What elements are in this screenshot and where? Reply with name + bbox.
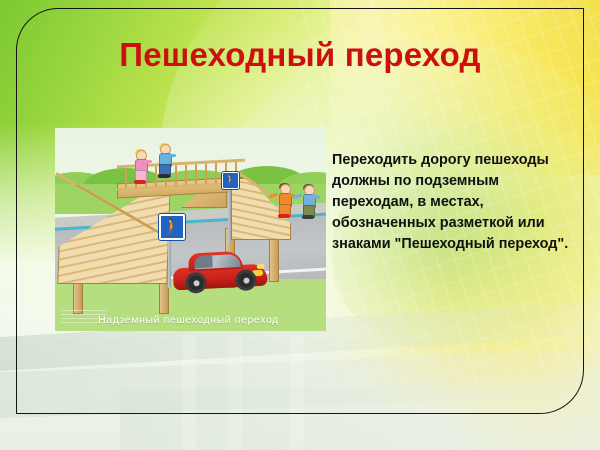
car-side-window xyxy=(194,255,213,268)
arm xyxy=(167,154,176,157)
shoes xyxy=(158,174,170,178)
background-vertical-bands xyxy=(170,335,600,450)
sign-pole xyxy=(228,186,231,244)
child-girl-on-bridge xyxy=(133,150,147,186)
shoes xyxy=(302,215,314,219)
slide: Пешеходный переход xyxy=(0,0,600,450)
pedestrian-crossing-sign: 🚶 xyxy=(222,172,239,189)
illustration-overpass: 🚶 🚶 Надземный пешеходный переход xyxy=(55,128,326,331)
pedestrian-crossing-sign: 🚶 xyxy=(159,214,185,240)
red-car xyxy=(172,250,268,295)
shoes xyxy=(134,180,146,184)
child-right-orange xyxy=(277,184,291,220)
illustration-caption: Надземный пешеходный переход xyxy=(55,314,326,326)
child-boy-on-bridge xyxy=(157,144,171,182)
shoes xyxy=(278,214,290,218)
sign-pole xyxy=(168,236,171,288)
car-wheel xyxy=(185,272,207,294)
pedestrian-icon: 🚶 xyxy=(163,220,182,235)
car-wheel xyxy=(235,269,257,291)
child-right-blue xyxy=(301,185,315,221)
pedestrian-icon: 🚶 xyxy=(224,176,236,186)
page-title: Пешеходный переход xyxy=(0,36,600,74)
arm xyxy=(143,160,152,163)
body-paragraph: Переходить дорогу пешеходы должны по под… xyxy=(332,150,578,255)
car-indicator xyxy=(257,264,265,269)
